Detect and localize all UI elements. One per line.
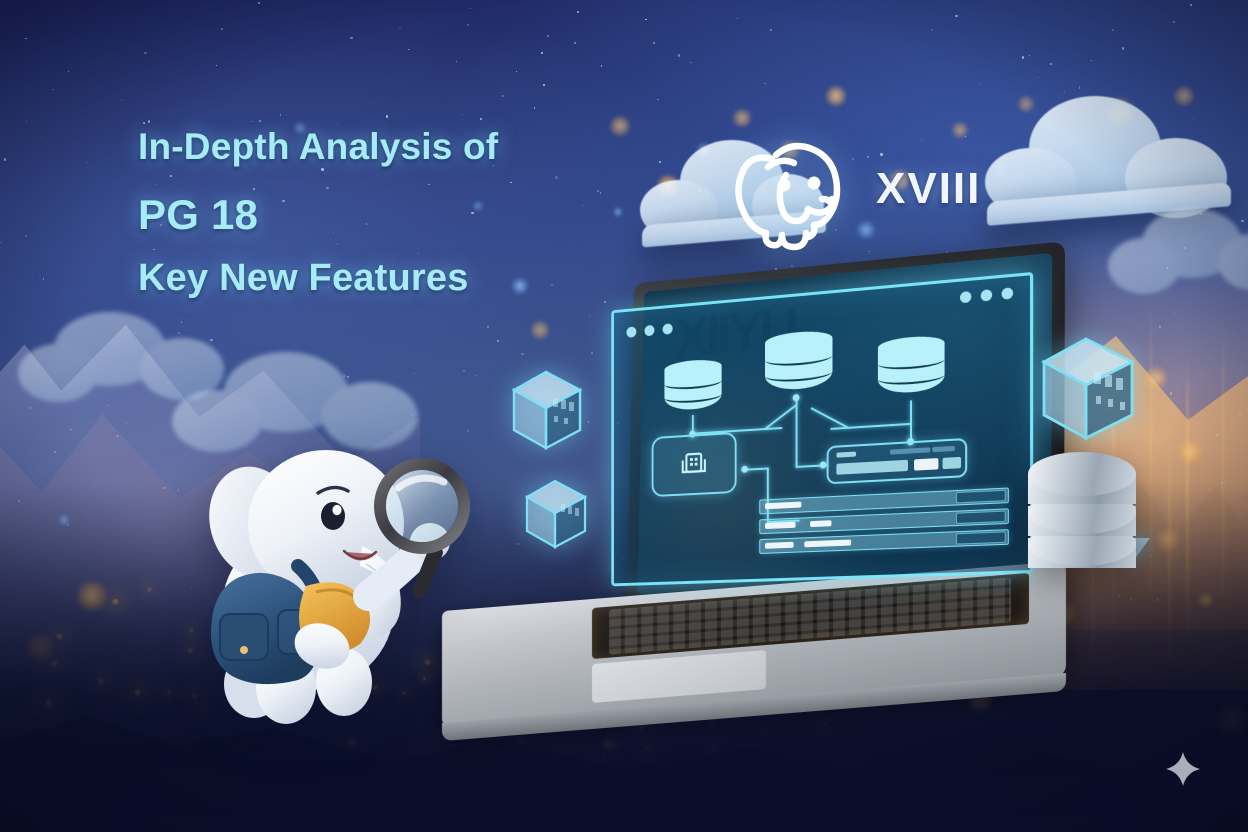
- connector-wire: [796, 464, 823, 467]
- title-line-1: In-Depth Analysis of: [138, 124, 498, 170]
- database-node-left[interactable]: [664, 358, 721, 419]
- panel-secondary-button[interactable]: [943, 457, 961, 469]
- window-dot[interactable]: [644, 325, 654, 336]
- bar-value-chip: [956, 531, 1006, 544]
- connector-wire: [811, 407, 849, 428]
- connector-wire: [767, 467, 769, 523]
- bar-value-chip: [956, 511, 1006, 525]
- bar-label: [810, 520, 831, 527]
- hologram-panel[interactable]: [611, 272, 1033, 586]
- title-line-3: Key New Features: [138, 254, 498, 302]
- connector-wire: [796, 396, 798, 468]
- panel-label-block: [890, 447, 930, 454]
- version-roman-numeral: XVIII: [876, 164, 981, 214]
- window-dot[interactable]: [1002, 287, 1014, 299]
- server-chip-icon: [678, 449, 709, 480]
- window-dot[interactable]: [960, 291, 971, 303]
- postgresql-elephant-logo-icon: [726, 125, 854, 253]
- panel-label-block: [836, 452, 856, 458]
- wire-node: [820, 461, 827, 468]
- laptop-trackpad[interactable]: [592, 650, 767, 703]
- four-point-star-sparkle-icon: [1166, 752, 1200, 786]
- bar-label: [804, 539, 851, 547]
- database-node-center[interactable]: [765, 329, 833, 400]
- config-panel-card[interactable]: [827, 438, 968, 484]
- window-dot[interactable]: [981, 289, 992, 301]
- progress-bar-row[interactable]: [759, 529, 1009, 554]
- postgres-version-badge: XVIII: [726, 125, 981, 253]
- window-dot[interactable]: [663, 323, 673, 335]
- data-cube-right[interactable]: [1036, 334, 1140, 446]
- title-block: In-Depth Analysis of PG 18 Key New Featu…: [138, 124, 498, 302]
- database-stack-3d[interactable]: [1028, 452, 1136, 588]
- title-line-2: PG 18: [138, 190, 498, 240]
- panel-label-block: [932, 446, 955, 452]
- wire-node: [741, 466, 748, 473]
- bar-value-chip: [956, 490, 1006, 504]
- panel-primary-button[interactable]: [914, 458, 938, 471]
- window-dots-right[interactable]: [960, 287, 1013, 303]
- connector-wire: [910, 400, 912, 441]
- connector-wire: [764, 404, 797, 430]
- window-dots-left[interactable]: [626, 323, 672, 338]
- bar-label: [765, 502, 801, 510]
- window-dot[interactable]: [626, 326, 636, 337]
- panel-input-field[interactable]: [836, 460, 908, 475]
- data-cube-left-lower[interactable]: [522, 478, 590, 552]
- bar-label: [765, 522, 796, 529]
- data-cube-left-upper[interactable]: [508, 368, 586, 454]
- poster-root: XIIYU: [0, 0, 1248, 832]
- database-node-right[interactable]: [878, 334, 945, 402]
- wire-node: [793, 394, 800, 401]
- elephant-explorer-mascot[interactable]: [158, 396, 478, 726]
- server-chip-card[interactable]: [652, 432, 737, 497]
- bar-label: [765, 542, 794, 549]
